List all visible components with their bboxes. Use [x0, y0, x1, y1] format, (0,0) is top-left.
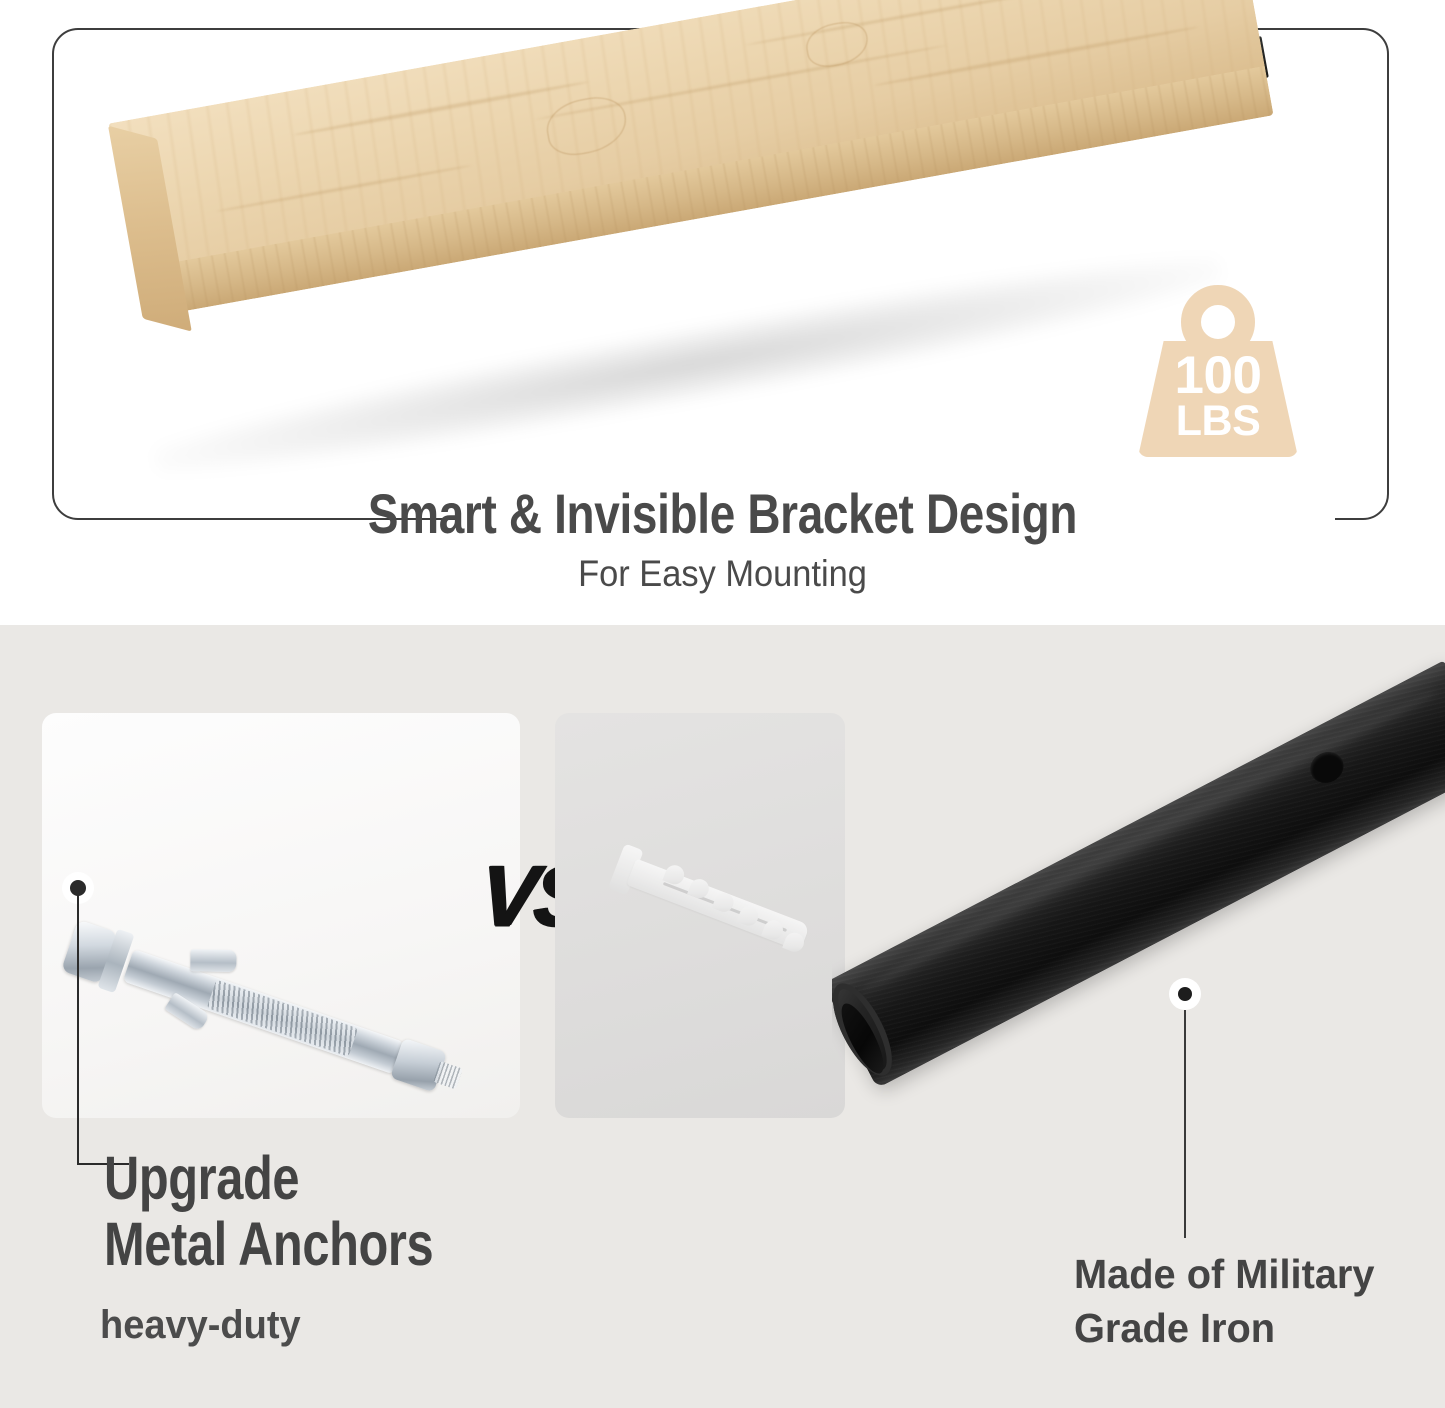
iron-pipe-callout-line — [1184, 1010, 1186, 1238]
wood-knot — [542, 92, 630, 159]
iron-pipe-photo — [832, 625, 1445, 1165]
wood-grain — [293, 80, 589, 137]
metal-hollow-wall-anchor — [58, 910, 469, 1112]
top-panel-bracket-design: 100 LBS Smart & Invisible Bracket Design… — [0, 0, 1445, 625]
black-iron-pipe — [832, 660, 1445, 1088]
metal-anchor-card — [42, 713, 520, 1118]
shelf-board-photo — [118, 30, 1278, 460]
metal-anchors-title-line1: Upgrade — [104, 1146, 433, 1212]
weight-value: 100 — [1136, 351, 1300, 401]
headline-subtitle: For Easy Mounting — [51, 553, 1395, 595]
weight-badge-text: 100 LBS — [1136, 351, 1300, 441]
product-infographic: 100 LBS Smart & Invisible Bracket Design… — [0, 0, 1445, 1408]
wood-grain — [745, 0, 1120, 47]
anchor-wing — [190, 949, 236, 972]
metal-anchor-callout-line — [77, 888, 79, 1165]
iron-pipe-callout-ring — [1169, 978, 1201, 1010]
metal-anchors-subtitle: heavy-duty — [100, 1303, 301, 1348]
wood-grain — [874, 25, 1199, 87]
iron-pipe-caption-line2: Grade Iron — [1074, 1301, 1375, 1355]
plastic-wall-plug — [599, 837, 823, 967]
headline-title: Smart & Invisible Bracket Design — [130, 481, 1315, 546]
pipe-highlight — [856, 682, 1442, 1000]
weight-unit: LBS — [1136, 401, 1300, 441]
metal-anchors-title: Upgrade Metal Anchors — [104, 1146, 433, 1278]
plastic-anchor-card — [555, 713, 845, 1118]
iron-pipe-caption: Made of Military Grade Iron — [1074, 1247, 1375, 1355]
wood-grain — [216, 164, 472, 213]
pipe-bore — [834, 998, 891, 1078]
pipe-open-end — [832, 975, 904, 1084]
iron-pipe-caption-line1: Made of Military — [1074, 1247, 1375, 1301]
anchor-thread-tip — [433, 1061, 463, 1090]
wood-knot — [803, 18, 871, 70]
metal-anchors-title-line2: Metal Anchors — [104, 1212, 433, 1278]
weight-capacity-badge: 100 LBS — [1136, 285, 1300, 457]
